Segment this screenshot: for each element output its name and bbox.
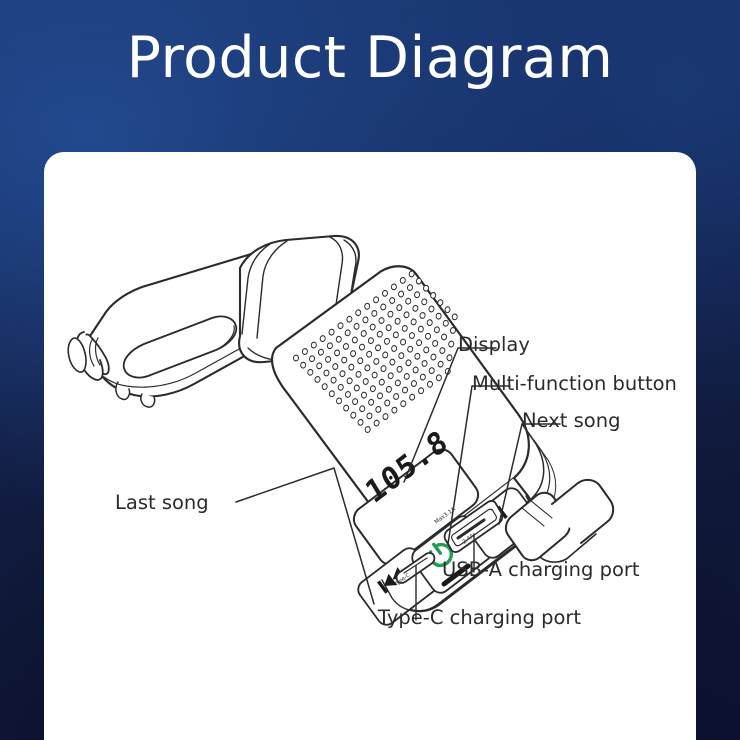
callout-label-display: Display — [458, 335, 530, 355]
product-illustration: 105.8 — [44, 152, 696, 740]
callout-label-next-song: Next song — [522, 411, 620, 431]
leader-lastsong — [236, 468, 374, 604]
diagram-card: 105.8 — [44, 152, 696, 740]
callout-label-type-c-charging-port: Type-C charging port — [378, 608, 581, 628]
callout-label-last-song: Last song — [115, 493, 209, 513]
callout-label-multi-function-button: Multi-function button — [472, 374, 677, 394]
callout-label-usb-a-charging-port: USB-A charging port — [442, 560, 640, 580]
page-title: Product Diagram — [0, 18, 740, 98]
product-diagram-page: Product Diagram — [0, 0, 740, 740]
